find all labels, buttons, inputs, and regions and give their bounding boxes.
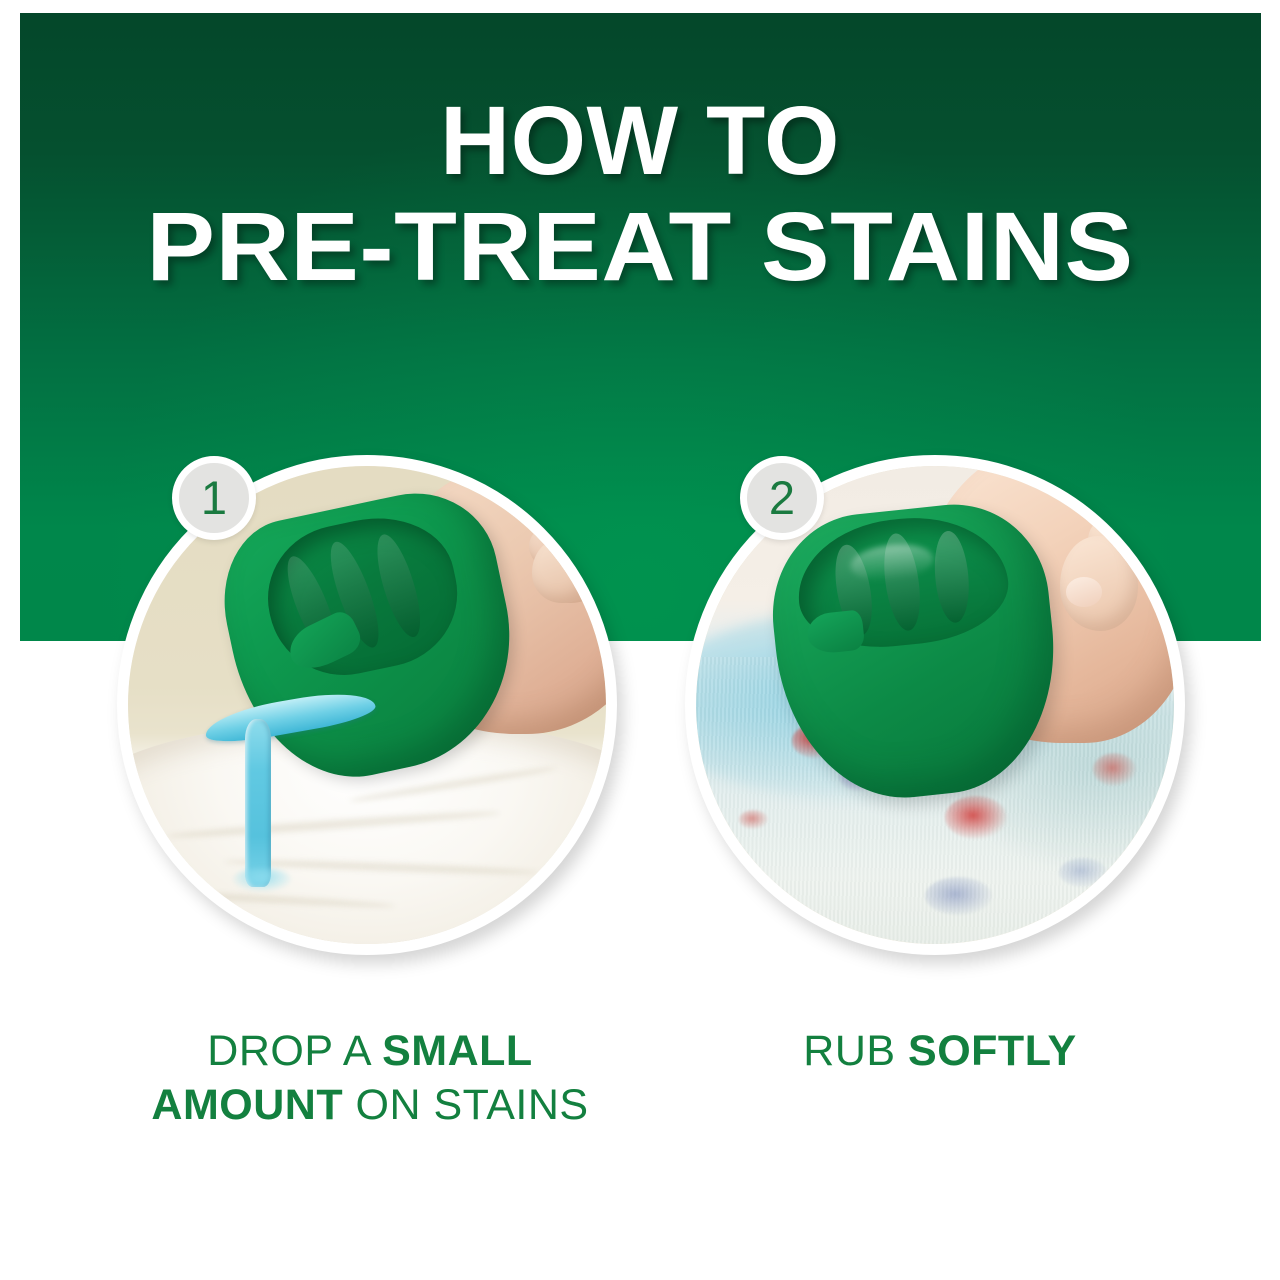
step-2-number: 2 [769, 474, 795, 521]
step-1-caption: DROP A SMALLAMOUNT ON STAINS [60, 1025, 680, 1133]
step-1-circle-wrap: 1 [117, 455, 617, 955]
photo-2-thumbnail [1066, 577, 1102, 607]
step-2-number-badge: 2 [740, 456, 824, 540]
photo-2-stain-print [945, 796, 1007, 839]
step-2-caption-prefix: RUB [803, 1027, 908, 1075]
photo-1-thumb [532, 538, 591, 602]
step-1-caption-prefix: DROP A [207, 1027, 382, 1075]
step-2-caption: RUB SOFTLY [690, 1025, 1190, 1079]
step-1-number-badge: 1 [172, 456, 256, 540]
photo-1-gel-pool [233, 868, 290, 892]
step-1-number: 1 [201, 474, 227, 521]
step-1-caption-suffix: ON STAINS [343, 1081, 589, 1129]
step-2-circle-wrap: 2 [685, 455, 1185, 955]
photo-2-stain-print [1059, 858, 1107, 887]
step-1-caption-bold-2: AMOUNT [151, 1081, 343, 1129]
photo-2-stain-print [1093, 753, 1136, 786]
step-1-caption-bold-1: SMALL [382, 1027, 533, 1075]
infographic-page: HOW TO PRE-TREAT STAINS [0, 0, 1280, 1280]
step-2-caption-bold: SOFTLY [908, 1027, 1077, 1075]
photo-2-stain-print [739, 810, 768, 829]
photo-1-gel-stream [245, 719, 271, 886]
step-2: 2 [685, 455, 1185, 955]
step-1: 1 [117, 455, 617, 955]
